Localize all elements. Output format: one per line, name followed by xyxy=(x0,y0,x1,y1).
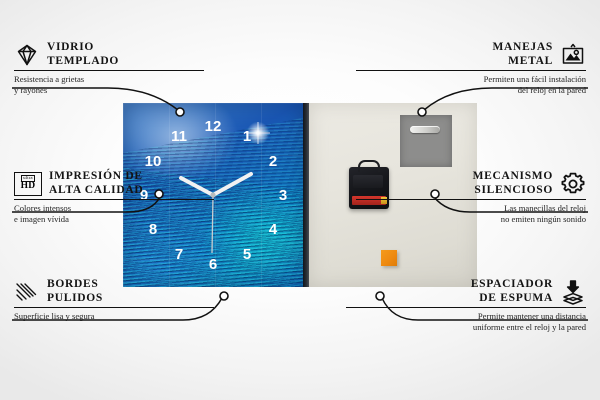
clock-numeral: 10 xyxy=(145,153,162,170)
feature-title-line2: ALTA CALIDAD xyxy=(49,184,143,198)
feature-title: BORDES PULIDOS xyxy=(47,278,103,305)
feature-title-line2: METAL xyxy=(493,55,554,69)
feature-desc-line1: Colores intensos xyxy=(14,203,214,214)
feature-mecanismo-silencioso: MECANISMO SILENCIOSO Las manecillas del … xyxy=(356,170,586,224)
feature-divider xyxy=(14,199,214,200)
foam-spacer-icon xyxy=(560,279,586,305)
feature-title-line1: VIDRIO xyxy=(47,41,119,55)
feature-manejas-metal: MANEJAS METAL Permiten una fácil instala… xyxy=(356,41,586,95)
clock-numeral: 1 xyxy=(243,128,251,145)
feature-divider xyxy=(14,70,204,71)
feature-vidrio-templado: VIDRIO TEMPLADO Resistencia a grietas y … xyxy=(14,41,204,95)
polished-edges-icon xyxy=(14,279,40,305)
feature-desc-line1: Permite mantener una distancia xyxy=(346,311,586,322)
feature-divider xyxy=(346,307,586,308)
gear-icon xyxy=(560,171,586,197)
clock-numeral: 3 xyxy=(279,187,287,204)
foam-spacer xyxy=(381,250,397,266)
feature-title-line1: MANEJAS xyxy=(493,41,554,55)
feature-title: IMPRESIÓN DE ALTA CALIDAD xyxy=(49,170,143,197)
feature-title-line1: IMPRESIÓN DE xyxy=(49,170,143,184)
feature-desc-line1: Permiten una fácil instalación xyxy=(356,74,586,85)
feature-title-line1: MECANISMO xyxy=(473,170,553,184)
feature-title-line2: DE ESPUMA xyxy=(471,292,553,306)
feature-title: VIDRIO TEMPLADO xyxy=(47,41,119,68)
feature-desc-line2: del reloj en la pared xyxy=(356,85,586,96)
feature-heading: MECANISMO SILENCIOSO xyxy=(356,170,586,197)
feature-title-line1: BORDES xyxy=(47,278,103,292)
feature-desc-line2: e imagen vívida xyxy=(14,214,214,225)
feature-heading: BORDES PULIDOS xyxy=(14,278,214,305)
diamond-icon xyxy=(14,42,40,68)
clock-numeral: 7 xyxy=(175,246,183,263)
infographic-canvas: 12 1 2 3 4 5 6 7 8 9 10 11 xyxy=(0,0,600,400)
feature-title-line1: ESPACIADOR xyxy=(471,278,553,292)
feature-divider xyxy=(14,307,214,308)
clock-numeral: 12 xyxy=(205,118,222,135)
feature-title: MECANISMO SILENCIOSO xyxy=(473,170,553,197)
feature-divider xyxy=(356,199,586,200)
feature-title: MANEJAS METAL xyxy=(493,41,554,68)
feature-bordes-pulidos: BORDES PULIDOS Superficie lisa y segura xyxy=(14,278,214,322)
clock-numeral: 6 xyxy=(209,256,217,273)
ultra-hd-icon: ultra HD xyxy=(14,172,42,196)
feature-desc-line2: y rayones xyxy=(14,85,204,96)
clock-numeral: 11 xyxy=(171,128,187,145)
feature-desc-line1: Las manecillas del reloj xyxy=(356,203,586,214)
clock-numeral: 2 xyxy=(269,153,277,170)
clock-numeral: 5 xyxy=(243,246,251,263)
minute-hand xyxy=(213,174,251,195)
feature-desc-line2: no emiten ningún sonido xyxy=(356,214,586,225)
ultra-hd-icon-big-text: HD xyxy=(21,182,36,192)
feature-title-line2: PULIDOS xyxy=(47,292,103,306)
feature-espaciador-espuma: ESPACIADOR DE ESPUMA Permite mantener un… xyxy=(346,278,586,332)
feature-desc-line2: uniforme entre el reloj y la pared xyxy=(346,322,586,333)
feature-divider xyxy=(356,70,586,71)
hanger-plate xyxy=(400,115,452,167)
feature-heading: VIDRIO TEMPLADO xyxy=(14,41,204,68)
hanger-keyhole-slot xyxy=(410,126,440,133)
clock-numeral: 4 xyxy=(269,221,278,238)
feature-desc-line1: Superficie lisa y segura xyxy=(14,311,214,322)
feature-desc-line1: Resistencia a grietas xyxy=(14,74,204,85)
feature-heading: MANEJAS METAL xyxy=(356,41,586,68)
feature-title: ESPACIADOR DE ESPUMA xyxy=(471,278,553,305)
feature-heading: ESPACIADOR DE ESPUMA xyxy=(346,278,586,305)
wall-frame-icon xyxy=(560,42,586,68)
feature-heading: ultra HD IMPRESIÓN DE ALTA CALIDAD xyxy=(14,170,214,197)
feature-impresion-alta-calidad: ultra HD IMPRESIÓN DE ALTA CALIDAD Color… xyxy=(14,170,214,224)
feature-title-line2: SILENCIOSO xyxy=(473,184,553,198)
feature-title-line2: TEMPLADO xyxy=(47,55,119,69)
